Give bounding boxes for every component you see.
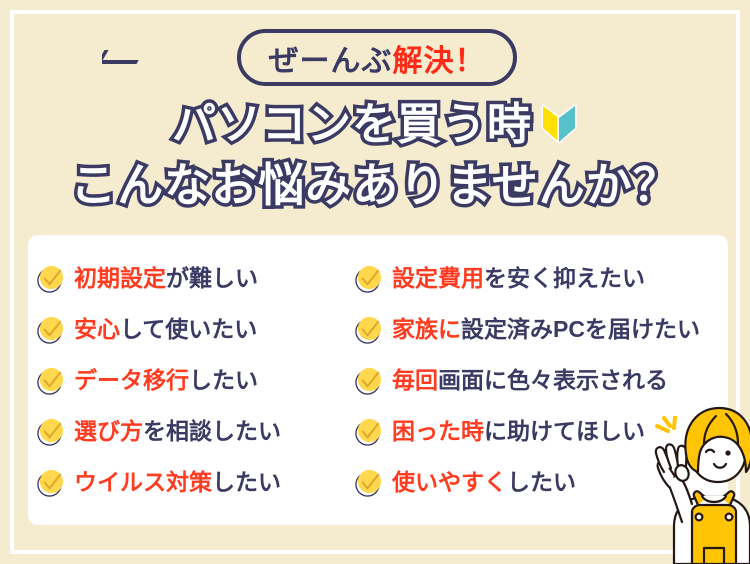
list-item[interactable]: 設定費用を安く抑えたい xyxy=(346,264,728,293)
poster-canvas: ぜーんぶ解決！ パソコンを買う時 こんなお悩みありませんか？ 初期設定が難しい xyxy=(0,0,750,564)
headline-line-2: こんなお悩みありませんか？ xyxy=(0,158,750,212)
check-circle-icon xyxy=(36,264,65,293)
list-item-label: 困った時に助けてほしい xyxy=(392,420,645,443)
page-title: パソコンを買う時 こんなお悩みありませんか？ xyxy=(0,98,750,212)
wakaba-beginner-mark-icon xyxy=(540,101,578,145)
list-item-label: データ移行したい xyxy=(74,369,258,392)
list-item[interactable]: 安心して使いたい xyxy=(28,315,346,344)
list-item-label: 設定費用を安く抑えたい xyxy=(392,267,645,290)
bubble-text-navy: ぜーんぶ xyxy=(269,36,393,80)
check-circle-icon xyxy=(36,417,65,446)
check-circle-icon xyxy=(36,366,65,395)
list-item-label: 家族に設定済みPCを届けたい xyxy=(392,318,700,341)
list-item-label: 選び方を相談したい xyxy=(74,420,281,443)
speech-bubble: ぜーんぶ解決！ xyxy=(237,29,517,86)
woman-ok-gesture-illustration xyxy=(620,400,750,564)
list-item[interactable]: 選び方を相談したい xyxy=(28,417,346,446)
check-circle-icon xyxy=(36,468,65,497)
check-circle-icon xyxy=(36,315,65,344)
speech-bubble-tail xyxy=(102,50,162,84)
check-circle-icon xyxy=(354,417,383,446)
check-circle-icon xyxy=(354,468,383,497)
check-circle-icon xyxy=(354,315,383,344)
list-item[interactable]: 初期設定が難しい xyxy=(28,264,346,293)
list-item-label: 安心して使いたい xyxy=(74,318,257,341)
check-circle-icon xyxy=(354,366,383,395)
list-item[interactable]: ウイルス対策したい xyxy=(28,468,346,497)
headline-line-1: パソコンを買う時 xyxy=(0,98,750,152)
list-item[interactable]: 毎回画面に色々表示される xyxy=(346,366,728,395)
list-item[interactable]: 家族に設定済みPCを届けたい xyxy=(346,315,728,344)
bubble-text-red: 解決！ xyxy=(393,36,486,80)
list-item-label: 使いやすくしたい xyxy=(392,471,576,494)
list-item-label: 初期設定が難しい xyxy=(74,267,258,290)
check-circle-icon xyxy=(354,264,383,293)
list-item-label: ウイルス対策したい xyxy=(74,471,281,494)
list-item-label: 毎回画面に色々表示される xyxy=(392,369,668,392)
speech-bubble-text: ぜーんぶ解決！ xyxy=(237,29,517,86)
list-item[interactable]: データ移行したい xyxy=(28,366,346,395)
